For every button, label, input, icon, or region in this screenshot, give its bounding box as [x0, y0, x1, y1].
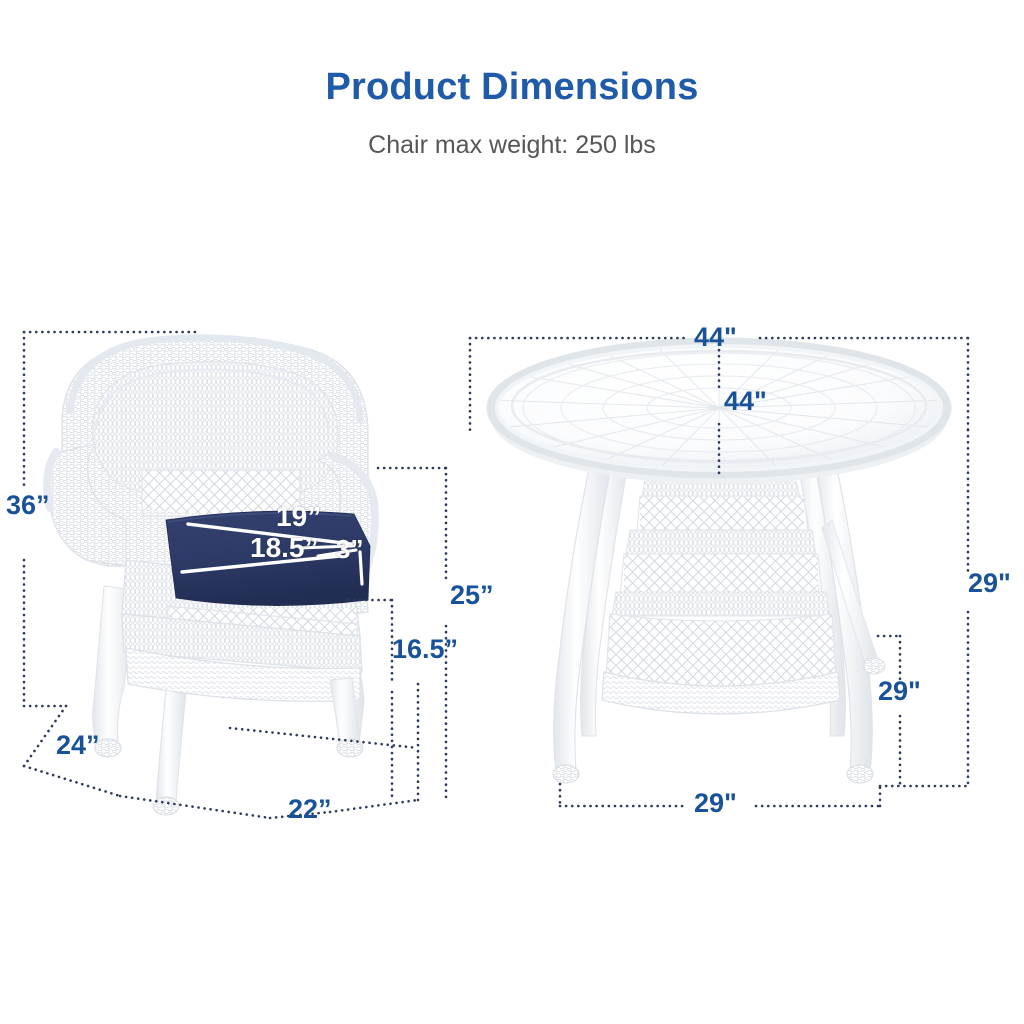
chair-max-weight-note: Chair max weight: 250 lbs: [0, 131, 1024, 160]
cushion-thickness-label: 3”: [336, 536, 363, 562]
chair-arm-height-label: 25”: [450, 582, 494, 609]
chair-width-label: 22”: [288, 796, 332, 823]
table-leg-height-label: 29": [878, 678, 921, 705]
table-leg-spread-label: 29": [694, 790, 737, 817]
chair-depth-label: 24”: [56, 732, 100, 759]
table-illustration: [491, 338, 947, 783]
table-top-width-label: 44": [694, 324, 737, 351]
cushion-depth-label: 18.5”: [250, 534, 319, 562]
chair-height-label: 36”: [6, 492, 50, 519]
table-top-depth-label: 44": [724, 388, 767, 415]
cushion-width-label: 19”: [276, 503, 321, 531]
product-dimensions-diagram: Product Dimensions Chair max weight: 250…: [0, 0, 1024, 1024]
table-height-label: 29": [968, 570, 1011, 597]
page-title: Product Dimensions: [0, 66, 1024, 109]
chair-seat-height-label: 16.5”: [392, 636, 458, 663]
